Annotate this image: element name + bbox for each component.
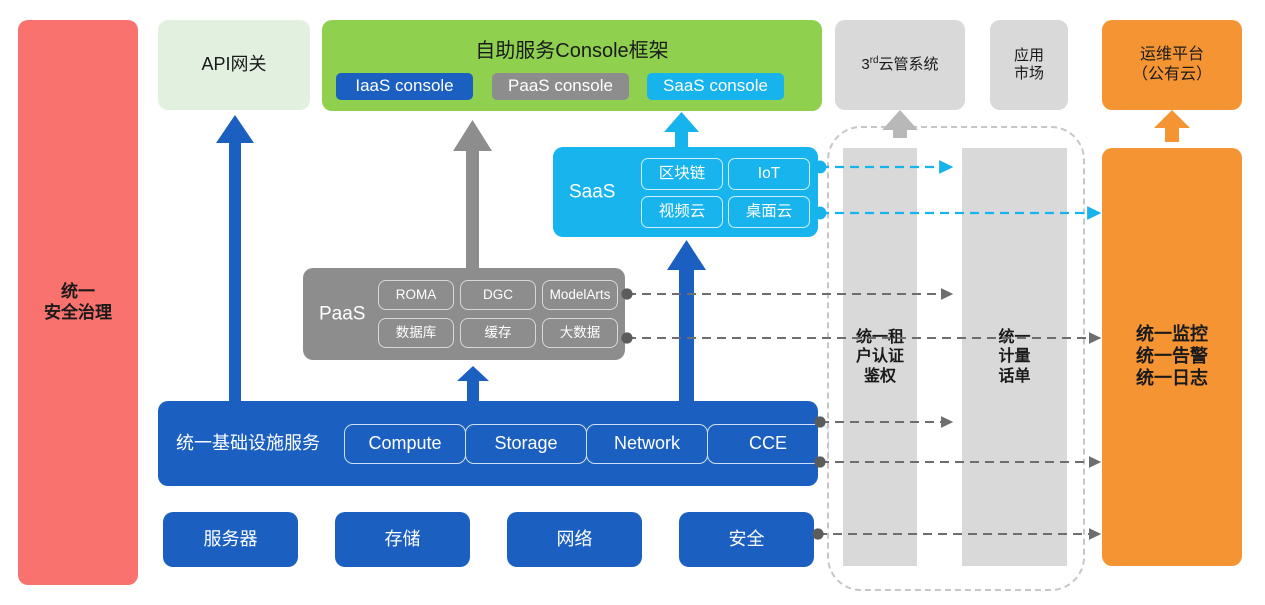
arrow-infra-to-api-gateway	[216, 115, 254, 401]
paas-item-bigdata-label: 大数据	[560, 325, 601, 341]
unified-tenant-auth-line2: 户认证	[856, 347, 904, 367]
infra-item-storage-label: Storage	[494, 433, 557, 455]
ops-capabilities-box: 统一监控 统一告警 统一日志	[1102, 148, 1242, 566]
infra-item-network[interactable]: Network	[586, 424, 708, 464]
ops-capabilities-line3: 统一日志	[1136, 368, 1208, 390]
infra-item-cce-label: CCE	[749, 433, 787, 455]
unified-tenant-auth-column: 统一租 户认证 鉴权	[843, 148, 917, 566]
paas-console-pill[interactable]: PaaS console	[492, 73, 629, 100]
infra-item-cce[interactable]: CCE	[707, 424, 829, 464]
arrow-to-ops-platform	[1154, 110, 1190, 142]
unified-tenant-auth-line1: 统一租	[856, 328, 904, 348]
third-party-cloud-mgmt-label: 3rd云管系统	[861, 55, 938, 74]
paas-panel: PaaS ROMA DGC ModelArts 数据库 缓存 大数据	[303, 268, 625, 360]
iaas-console-pill[interactable]: IaaS console	[336, 73, 473, 100]
app-market-line2: 市场	[1014, 65, 1044, 83]
unified-metering-line3: 话单	[998, 367, 1030, 387]
saas-console-pill[interactable]: SaaS console	[647, 73, 784, 100]
paas-item-modelarts[interactable]: ModelArts	[542, 280, 618, 310]
infra-item-compute-label: Compute	[368, 433, 441, 455]
hardware-item-network-label: 网络	[557, 529, 593, 551]
paas-item-modelarts-label: ModelArts	[550, 287, 611, 303]
hardware-item-server-label: 服务器	[204, 529, 258, 551]
saas-panel: SaaS 区块链 IoT 视频云 桌面云	[553, 147, 818, 237]
saas-item-video-cloud-label: 视频云	[659, 203, 706, 222]
paas-console-label: PaaS console	[508, 76, 613, 97]
app-market-line1: 应用	[1014, 47, 1044, 65]
saas-item-desktop-cloud[interactable]: 桌面云	[728, 196, 810, 228]
hardware-item-security-label: 安全	[729, 529, 765, 551]
paas-item-bigdata[interactable]: 大数据	[542, 318, 618, 348]
ops-platform-box: 运维平台 （公有云）	[1102, 20, 1242, 110]
console-frame: 自助服务Console框架 IaaS console PaaS console …	[322, 20, 822, 111]
api-gateway-box: API网关	[158, 20, 310, 110]
hardware-item-server[interactable]: 服务器	[163, 512, 298, 567]
saas-item-video-cloud[interactable]: 视频云	[641, 196, 723, 228]
security-governance-panel: 统一 安全治理	[18, 20, 138, 585]
infra-item-network-label: Network	[614, 433, 680, 455]
security-governance-line1: 统一	[61, 282, 95, 303]
saas-item-desktop-cloud-label: 桌面云	[746, 203, 793, 222]
arrow-saas-to-saas-console	[664, 112, 699, 148]
arrow-paas-to-console	[453, 120, 492, 268]
security-governance-line2: 安全治理	[44, 303, 112, 324]
paas-item-cache[interactable]: 缓存	[460, 318, 536, 348]
saas-item-blockchain[interactable]: 区块链	[641, 158, 723, 190]
unified-metering-line2: 计量	[998, 347, 1030, 367]
saas-item-iot-label: IoT	[758, 165, 780, 184]
saas-panel-label: SaaS	[569, 180, 615, 203]
ops-capabilities-line1: 统一监控	[1136, 324, 1208, 346]
architecture-diagram: 统一 安全治理 API网关 自助服务Console框架 IaaS console…	[0, 0, 1265, 605]
unified-tenant-auth-line3: 鉴权	[864, 367, 896, 387]
unified-metering-column: 统一 计量 话单	[962, 148, 1067, 566]
infra-item-compute[interactable]: Compute	[344, 424, 466, 464]
hardware-item-storage-label: 存储	[385, 529, 421, 551]
unified-metering-line1: 统一	[998, 328, 1030, 348]
arrow-infra-to-saas	[667, 240, 706, 401]
infrastructure-bar: 统一基础设施服务 Compute Storage Network CCE	[158, 401, 818, 486]
paas-item-roma[interactable]: ROMA	[378, 280, 454, 310]
infrastructure-label: 统一基础设施服务	[176, 433, 320, 455]
paas-item-cache-label: 缓存	[485, 325, 512, 341]
ops-platform-line1: 运维平台	[1140, 45, 1204, 65]
third-party-superscript: rd	[870, 55, 879, 66]
infra-item-storage[interactable]: Storage	[465, 424, 587, 464]
paas-item-dgc-label: DGC	[483, 287, 513, 303]
ops-capabilities-line2: 统一告警	[1136, 346, 1208, 368]
paas-item-database[interactable]: 数据库	[378, 318, 454, 348]
api-gateway-label: API网关	[201, 54, 266, 76]
ops-platform-line2: （公有云）	[1132, 65, 1212, 85]
app-market-box: 应用 市场	[990, 20, 1068, 110]
hardware-item-security[interactable]: 安全	[679, 512, 814, 567]
saas-item-iot[interactable]: IoT	[728, 158, 810, 190]
console-frame-title: 自助服务Console框架	[322, 39, 822, 63]
paas-item-roma-label: ROMA	[396, 287, 437, 303]
hardware-item-storage[interactable]: 存储	[335, 512, 470, 567]
paas-item-dgc[interactable]: DGC	[460, 280, 536, 310]
paas-panel-label: PaaS	[319, 302, 365, 325]
iaas-console-label: IaaS console	[355, 76, 453, 97]
saas-console-label: SaaS console	[663, 76, 768, 97]
paas-item-database-label: 数据库	[396, 325, 437, 341]
arrow-infra-to-paas	[457, 366, 489, 401]
hardware-item-network[interactable]: 网络	[507, 512, 642, 567]
third-party-cloud-mgmt-box: 3rd云管系统	[835, 20, 965, 110]
saas-item-blockchain-label: 区块链	[659, 165, 706, 184]
